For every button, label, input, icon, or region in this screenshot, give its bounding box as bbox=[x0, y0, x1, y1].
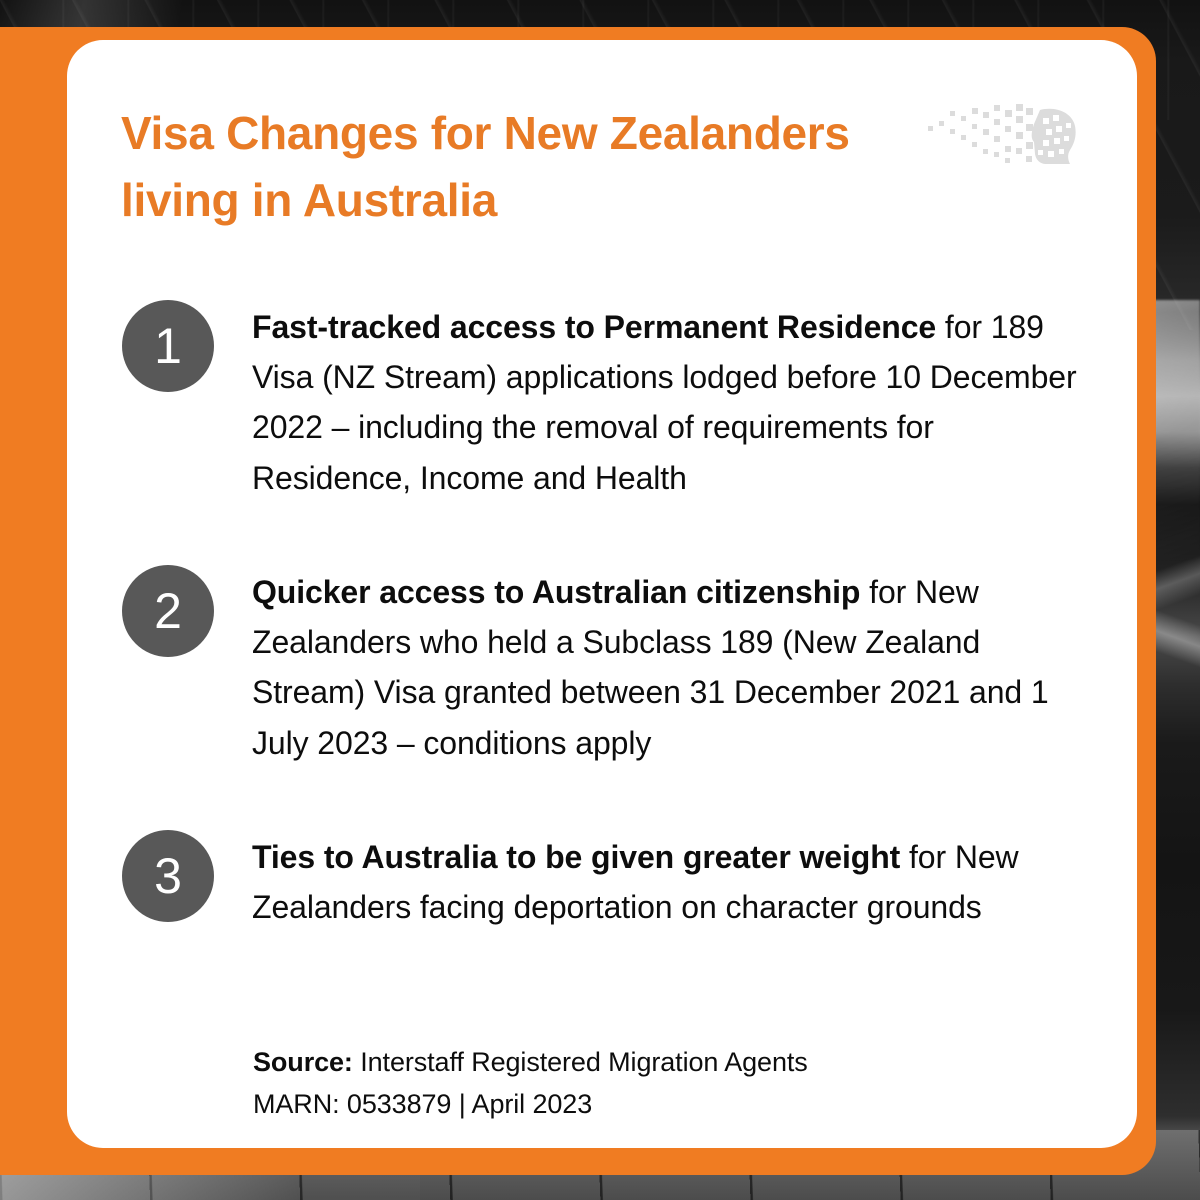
content-card: Visa Changes for New Zealanders living i… bbox=[67, 40, 1137, 1148]
list-item-lead: Quicker access to Australian citizenship bbox=[252, 574, 860, 610]
list-item: 2 Quicker access to Australian citizensh… bbox=[122, 563, 1082, 768]
list-item-number-badge: 2 bbox=[122, 565, 214, 657]
list-item: 1 Fast-tracked access to Permanent Resid… bbox=[122, 298, 1082, 503]
poster-canvas: Visa Changes for New Zealanders living i… bbox=[0, 0, 1200, 1200]
source-attribution: Source: Interstaff Registered Migration … bbox=[253, 1042, 808, 1126]
list-item-text: Quicker access to Australian citizenship… bbox=[252, 563, 1082, 768]
source-label: Source: bbox=[253, 1047, 353, 1077]
numbered-change-list: 1 Fast-tracked access to Permanent Resid… bbox=[122, 298, 1082, 992]
list-item-number-badge: 3 bbox=[122, 830, 214, 922]
list-item-text: Fast-tracked access to Permanent Residen… bbox=[252, 298, 1082, 503]
source-marn-line: MARN: 0533879 | April 2023 bbox=[253, 1084, 808, 1126]
page-title: Visa Changes for New Zealanders living i… bbox=[121, 100, 951, 233]
list-item-number-badge: 1 bbox=[122, 300, 214, 392]
list-item-lead: Fast-tracked access to Permanent Residen… bbox=[252, 309, 936, 345]
pixelated-head-profile-logo-icon bbox=[922, 102, 1087, 168]
list-item: 3 Ties to Australia to be given greater … bbox=[122, 828, 1082, 932]
list-item-lead: Ties to Australia to be given greater we… bbox=[252, 839, 900, 875]
source-value: Interstaff Registered Migration Agents bbox=[353, 1047, 808, 1077]
list-item-text: Ties to Australia to be given greater we… bbox=[252, 828, 1082, 932]
